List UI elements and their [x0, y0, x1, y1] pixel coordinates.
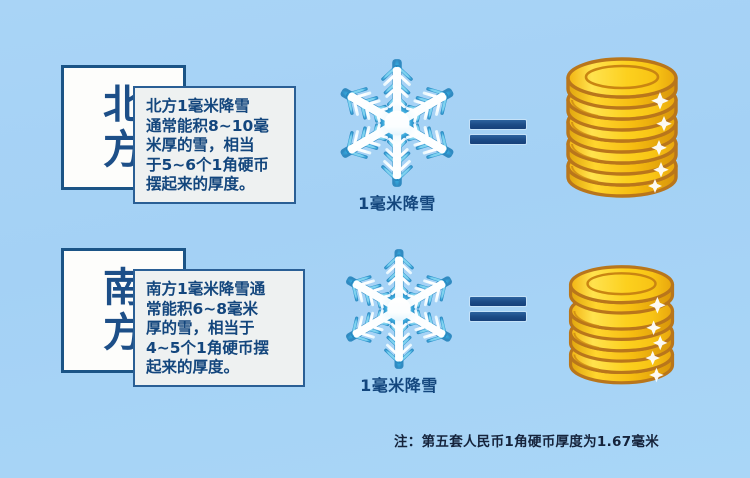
description-line: 摆起来的厚度。	[146, 175, 283, 195]
snowflake-icon	[332, 58, 462, 188]
equals-bar-bottom	[470, 312, 526, 321]
equals-bar-top	[470, 120, 526, 129]
equals-sign-north	[470, 120, 526, 144]
description-line: 常能积6~8毫米	[146, 300, 292, 320]
snowflake-label-south: 1毫米降雪	[338, 372, 460, 396]
equals-sign-south	[470, 297, 526, 321]
equals-bar-top	[470, 297, 526, 306]
description-line: 起来的厚度。	[146, 358, 292, 378]
description-line: 于5~6个1角硬币	[146, 156, 283, 176]
coin-stack-icon	[563, 252, 681, 390]
description-card-north: 北方1毫米降雪 通常能积8~10毫 米厚的雪，相当 于5~6个1角硬币 摆起来的…	[133, 86, 296, 204]
description-line: 米厚的雪，相当	[146, 136, 283, 156]
description-line: 北方1毫米降雪	[146, 97, 283, 117]
footnote-text: 注：第五套人民币1角硬币厚度为1.67毫米	[394, 430, 659, 450]
description-line: 通常能积8~10毫	[146, 117, 283, 137]
coin-stack-north	[560, 48, 685, 200]
description-line: 厚的雪，相当于	[146, 319, 292, 339]
snowflake-graphic-north: 1毫米降雪	[332, 58, 462, 188]
description-card-south: 南方1毫米降雪通 常能积6~8毫米 厚的雪，相当于 4~5个1角硬币摆 起来的厚…	[133, 269, 305, 387]
description-line: 4~5个1角硬币摆	[146, 339, 292, 359]
equals-bar-bottom	[470, 135, 526, 144]
snowflake-graphic-south: 1毫米降雪	[338, 248, 460, 370]
coin-stack-icon	[560, 48, 685, 200]
snowflake-label-north: 1毫米降雪	[332, 190, 462, 214]
snowflake-icon	[338, 248, 460, 370]
description-line: 南方1毫米降雪通	[146, 280, 292, 300]
infographic-canvas: 北方 北方1毫米降雪 通常能积8~10毫 米厚的雪，相当 于5~6个1角硬币 摆…	[0, 0, 750, 478]
coin-stack-south	[563, 252, 681, 390]
